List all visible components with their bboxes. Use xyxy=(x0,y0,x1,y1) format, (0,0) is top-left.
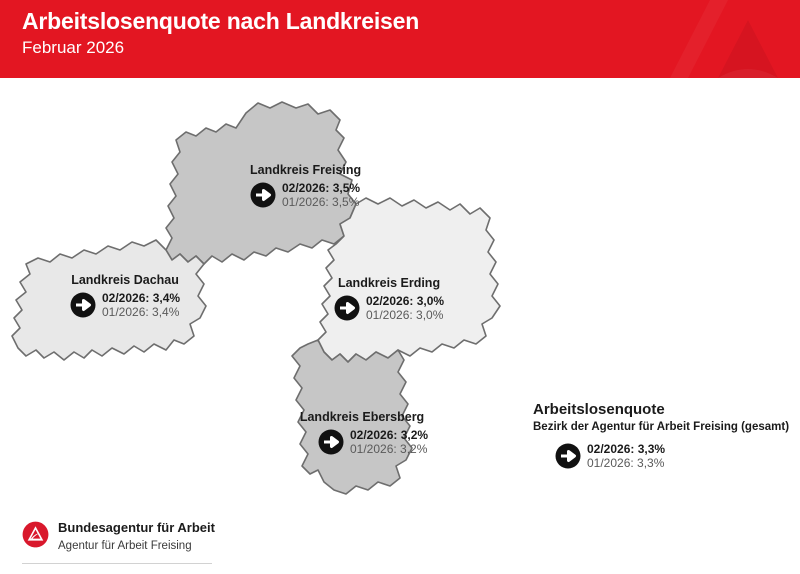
page-title: Arbeitslosenquote nach Landkreisen xyxy=(22,7,419,35)
legend-title: Arbeitslosenquote xyxy=(533,400,798,419)
ba-triangle-watermark-icon xyxy=(610,0,800,78)
footer-organisation: Bundesagentur für Arbeit xyxy=(58,519,215,536)
bundesagentur-fuer-arbeit-logo-icon xyxy=(22,521,49,548)
district-current-erding: 02/2026: 3,0% xyxy=(366,294,444,308)
district-previous-ebersberg: 01/2026: 3,2% xyxy=(350,442,428,456)
district-values-ebersberg: 02/2026: 3,2% 01/2026: 3,2% xyxy=(318,428,428,456)
district-label-erding: Landkreis Erding 02/2026: 3,0% 01/2026: … xyxy=(334,276,444,322)
district-previous-dachau: 01/2026: 3,4% xyxy=(102,305,180,319)
district-previous-erding: 01/2026: 3,0% xyxy=(366,308,444,322)
legend-current-value: 02/2026: 3,3% xyxy=(587,442,665,456)
district-previous-freising: 01/2026: 3,5% xyxy=(282,195,360,209)
district-label-ebersberg: Landkreis Ebersberg 02/2026: 3,2% 01/202… xyxy=(296,410,428,456)
footer-divider xyxy=(22,563,212,564)
arrow-right-circle-icon xyxy=(70,292,96,318)
legend-values: 02/2026: 3,3% 01/2026: 3,3% xyxy=(555,442,798,470)
district-values-freising: 02/2026: 3,5% 01/2026: 3,5% xyxy=(250,181,361,209)
district-values-erding: 02/2026: 3,0% 01/2026: 3,0% xyxy=(334,294,444,322)
arrow-right-circle-icon xyxy=(250,182,276,208)
page-subtitle: Februar 2026 xyxy=(22,37,419,59)
district-name-ebersberg: Landkreis Ebersberg xyxy=(296,410,428,425)
district-label-freising: Landkreis Freising 02/2026: 3,5% 01/2026… xyxy=(250,163,361,209)
arrow-right-circle-icon xyxy=(318,429,344,455)
district-current-freising: 02/2026: 3,5% xyxy=(282,181,360,195)
district-name-erding: Landkreis Erding xyxy=(334,276,444,291)
district-name-dachau: Landkreis Dachau xyxy=(70,273,180,288)
arrow-right-circle-icon xyxy=(334,295,360,321)
district-values-dachau: 02/2026: 3,4% 01/2026: 3,4% xyxy=(70,291,180,319)
district-current-ebersberg: 02/2026: 3,2% xyxy=(350,428,428,442)
legend-block: Arbeitslosenquote Bezirk der Agentur für… xyxy=(533,400,798,470)
legend-previous-value: 01/2026: 3,3% xyxy=(587,456,665,470)
header-text-block: Arbeitslosenquote nach Landkreisen Febru… xyxy=(22,7,419,59)
district-current-dachau: 02/2026: 3,4% xyxy=(102,291,180,305)
district-name-freising: Landkreis Freising xyxy=(250,163,361,178)
footer-branch: Agentur für Arbeit Freising xyxy=(58,539,215,554)
page-header: Arbeitslosenquote nach Landkreisen Febru… xyxy=(0,0,800,78)
footer-block: Bundesagentur für Arbeit Agentur für Arb… xyxy=(22,519,282,554)
district-label-dachau: Landkreis Dachau 02/2026: 3,4% 01/2026: … xyxy=(70,273,180,319)
district-map: Landkreis Freising 02/2026: 3,5% 01/2026… xyxy=(0,78,540,508)
arrow-right-circle-icon xyxy=(555,443,581,469)
legend-subtitle: Bezirk der Agentur für Arbeit Freising (… xyxy=(533,420,798,435)
